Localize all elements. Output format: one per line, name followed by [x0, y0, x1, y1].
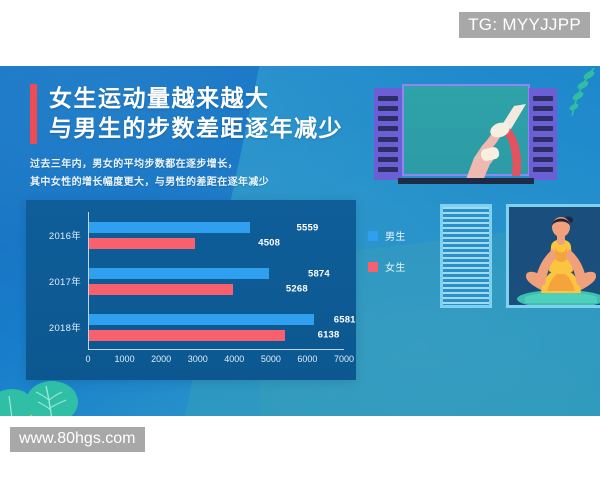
meditation-lotus-figure-icon	[513, 213, 600, 307]
chart-group: 2016年55594508	[89, 212, 344, 258]
x-tick-label: 5000	[261, 354, 281, 364]
bar-男生	[89, 268, 269, 279]
headline-accent-bar	[30, 84, 37, 144]
bar-row: 5559	[89, 222, 292, 233]
legend-label: 女生	[385, 259, 406, 274]
bar-男生	[89, 314, 314, 325]
window-pane-bottom	[506, 204, 600, 308]
window-shutter-louvered	[440, 204, 492, 308]
legend-item-男生[interactable]: 男生	[368, 228, 406, 243]
category-label: 2018年	[49, 320, 81, 334]
legend-swatch-icon	[368, 231, 378, 241]
screenshot-root: TG: MYYJJPP 女生运动量越来越大 与男生的步数差距逐年减少 过去三年内…	[0, 0, 600, 480]
subtitle-line-2: 其中女性的增长幅度更大，与男性的差距在逐年减少	[30, 174, 269, 192]
bar-value-label: 4508	[258, 238, 280, 249]
legend-swatch-icon	[368, 262, 378, 272]
chart-group: 2017年58745268	[89, 258, 344, 304]
bar-女生	[89, 330, 285, 341]
bar-女生	[89, 284, 233, 295]
headline-line-1: 女生运动量越来越大	[49, 84, 343, 114]
headline-block: 女生运动量越来越大 与男生的步数差距逐年减少	[30, 84, 343, 144]
x-tick-label: 7000	[334, 354, 354, 364]
window-illustration-bottom	[440, 202, 600, 314]
chart-group: 2018年65816138	[89, 304, 344, 350]
bar-value-label: 6581	[334, 314, 356, 325]
leaf-decoration-icon	[0, 348, 134, 416]
legend-item-女生[interactable]: 女生	[368, 259, 406, 274]
window-shutter-right	[529, 88, 557, 180]
infographic-poster: 女生运动量越来越大 与男生的步数差距逐年减少 过去三年内，男女的平均步数都在逐步…	[0, 66, 600, 416]
window-sill	[398, 178, 534, 184]
legend-label: 男生	[385, 228, 406, 243]
window-pane-top	[402, 84, 530, 176]
chart-legend: 男生女生	[368, 228, 406, 290]
subtitle-line-1: 过去三年内，男女的平均步数都在逐步增长，	[30, 156, 269, 174]
bar-value-label: 5874	[308, 268, 330, 279]
site-watermark: www.80hgs.com	[10, 427, 145, 452]
bar-row: 5268	[89, 284, 281, 295]
telegram-watermark: TG: MYYJJPP	[459, 12, 590, 38]
chart-plot-area: 2016年555945082017年587452682018年65816138	[88, 212, 344, 350]
bar-value-label: 5559	[297, 222, 319, 233]
category-label: 2017年	[49, 274, 81, 288]
x-tick-label: 6000	[297, 354, 317, 364]
bar-value-label: 5268	[286, 284, 308, 295]
subtitle-block: 过去三年内，男女的平均步数都在逐步增长， 其中女性的增长幅度更大，与男性的差距在…	[30, 156, 269, 192]
bar-row: 4508	[89, 238, 253, 249]
bar-男生	[89, 222, 250, 233]
bar-row: 6581	[89, 314, 329, 325]
bar-row: 6138	[89, 330, 313, 341]
bar-value-label: 6138	[318, 330, 340, 341]
x-tick-label: 3000	[188, 354, 208, 364]
bar-女生	[89, 238, 195, 249]
x-tick-label: 2000	[151, 354, 171, 364]
headline-line-2: 与男生的步数差距逐年减少	[49, 114, 343, 144]
bar-row: 5874	[89, 268, 303, 279]
window-shutter-left	[374, 88, 402, 180]
category-label: 2016年	[49, 228, 81, 242]
window-illustration-top	[374, 82, 559, 188]
x-tick-label: 4000	[224, 354, 244, 364]
